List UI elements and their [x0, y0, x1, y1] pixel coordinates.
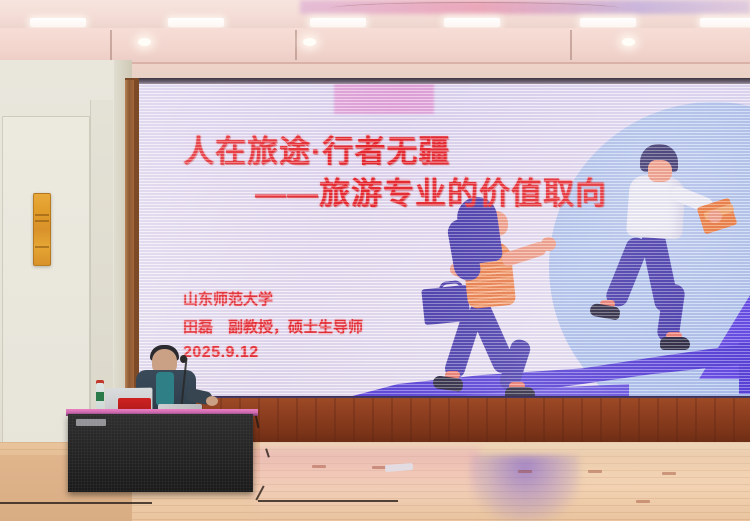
speaker-shirt — [156, 372, 174, 406]
ceiling-panel-light — [444, 18, 500, 27]
podium-logo — [76, 419, 106, 426]
man-shirt — [626, 174, 686, 240]
floor-marker — [636, 500, 650, 503]
man-face — [648, 160, 672, 182]
speaker-hand — [206, 396, 218, 406]
ceiling-downlight — [138, 38, 151, 46]
floor-marker — [372, 466, 386, 469]
water-bottle-label — [96, 392, 104, 401]
floor-marker — [518, 470, 532, 473]
ceiling-hanger — [110, 30, 112, 60]
ceiling-panel-light — [700, 18, 750, 27]
floor-marker — [662, 472, 676, 475]
ceiling-hanger — [570, 30, 572, 60]
man-hand — [708, 210, 722, 223]
woman-front-shoe — [505, 387, 535, 396]
ceiling-hanger — [295, 30, 297, 60]
floor-purple-reflection — [470, 455, 580, 521]
ceiling-downlight — [303, 38, 316, 46]
screen-left-wood-trim — [125, 80, 134, 420]
woman-front-hand — [541, 237, 556, 251]
wall-door-panel — [2, 116, 90, 450]
pink-blob-shape — [334, 84, 434, 114]
man-front-shoe — [660, 337, 690, 350]
ceiling-wire — [330, 2, 620, 15]
ceiling-panel-light — [310, 18, 366, 27]
lecture-hall-screenshot: 人在旅途·行者无疆 ——旅游专业的价值取向 山东师范大学 田磊 副教授，硕士生导… — [0, 0, 750, 521]
ceiling-panel-light — [580, 18, 636, 27]
orange-wall-fixture — [33, 193, 51, 266]
led-screen[interactable]: 人在旅途·行者无疆 ——旅游专业的价值取向 山东师范大学 田磊 副教授，硕士生导… — [139, 84, 750, 396]
slide-date: 2025.9.12 — [183, 344, 259, 362]
slide-organization: 山东师范大学 — [183, 288, 273, 309]
ceiling-panel-light — [30, 18, 86, 27]
floor-cable — [0, 502, 152, 504]
slide-presenter: 田磊 副教授，硕士生导师 — [183, 316, 363, 337]
slide-title: 人在旅途·行者无疆 — [183, 126, 450, 171]
floor-marker — [588, 470, 602, 473]
slide-subtitle: ——旅游专业的价值取向 — [255, 168, 607, 213]
floor-pink-reflection — [250, 448, 480, 521]
ceiling-panel-light — [168, 18, 224, 27]
floor-cable — [258, 500, 398, 502]
illustration-figure-woman — [429, 189, 589, 396]
illustration-figure-man — [604, 144, 750, 359]
floor-marker — [312, 465, 326, 468]
microphone-icon — [180, 355, 187, 363]
ceiling-downlight — [622, 38, 635, 46]
